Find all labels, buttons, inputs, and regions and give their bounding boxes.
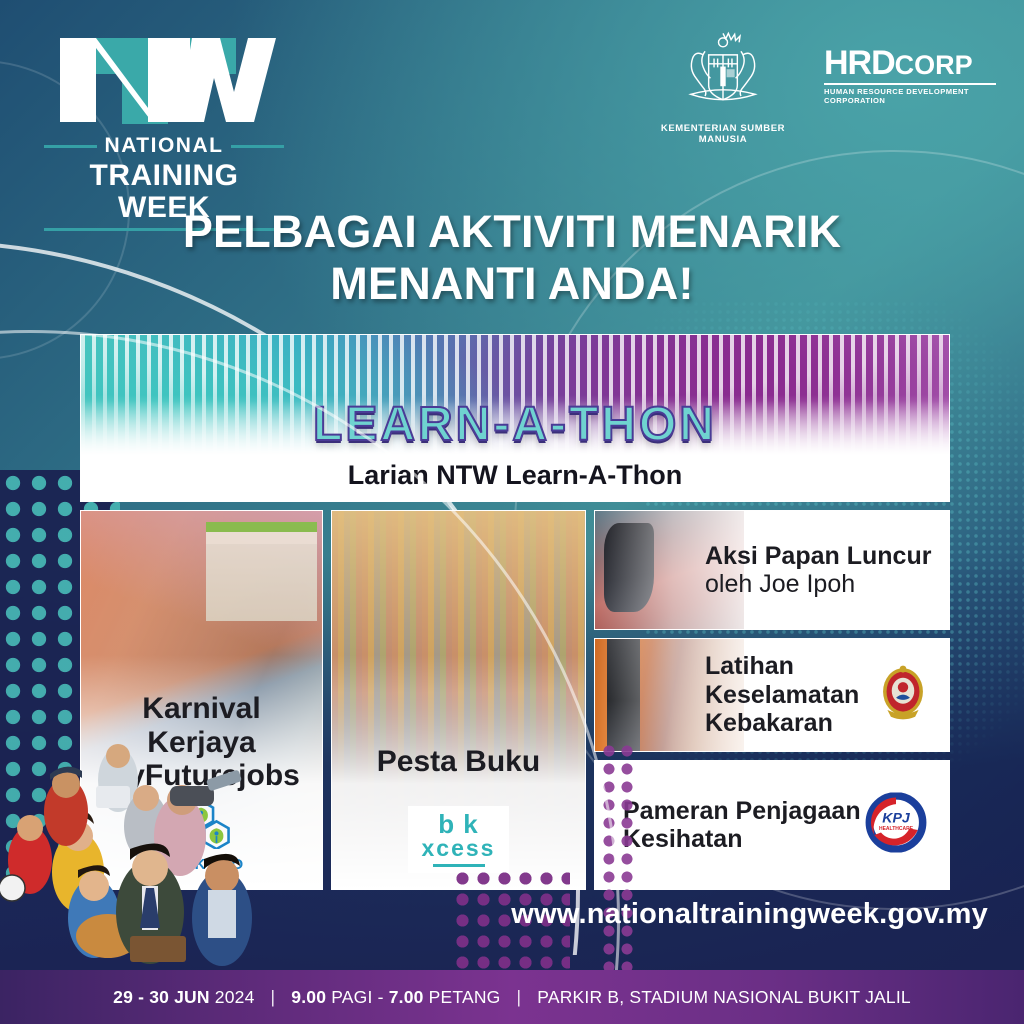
- svg-text:KPJ: KPJ: [882, 811, 911, 827]
- activity-card-skate-subtitle: oleh Joe Ipoh: [705, 570, 931, 599]
- activity-card-skate-title: Aksi Papan Luncur: [705, 542, 931, 571]
- headline-line-1: PELBAGAI AKTIVITI MENARIK: [0, 206, 1024, 258]
- bookxcess-rule: [433, 864, 485, 867]
- ntw-logo-mark-icon: [44, 30, 284, 130]
- activity-card-skate-text: Aksi Papan Luncur oleh Joe Ipoh: [595, 542, 931, 599]
- logo-rule-right: [231, 145, 284, 148]
- footer-venue: PARKIR B, STADIUM NASIONAL BUKIT JALIL: [537, 987, 911, 1008]
- hrdcorp-logo: HRDCORP HUMAN RESOURCE DEVELOPMENT CORPO…: [824, 28, 996, 105]
- learnathon-artwork-text: LEARN-A-THON: [81, 397, 949, 452]
- learnathon-banner[interactable]: LEARN-A-THON Larian NTW Learn-A-Thon: [80, 334, 950, 502]
- activity-column-right: Aksi Papan Luncur oleh Joe Ipoh Latihan …: [594, 510, 950, 890]
- footer-dates-year: 2024: [215, 987, 255, 1007]
- footer-dates-bold: 29 - 30 JUN: [113, 987, 210, 1007]
- activity-card-skate[interactable]: Aksi Papan Luncur oleh Joe Ipoh: [594, 510, 950, 630]
- footer-time-from-label: PAGI: [331, 987, 372, 1007]
- people-collage: [0, 740, 300, 970]
- headline-line-2: MENANTI ANDA!: [0, 258, 1024, 310]
- people-illustration-icon: [0, 740, 300, 970]
- footer-time-to-label: PETANG: [429, 987, 501, 1007]
- bomba-badge-icon: [877, 665, 929, 721]
- partner-logos: KEMENTERIAN SUMBER MANUSIA HRDCORP HUMAN…: [648, 28, 996, 145]
- bookxcess-line-2: xcess: [422, 837, 496, 860]
- hrdcorp-wordmark: HRDCORP: [824, 46, 996, 80]
- jata-negara-crest-icon: [663, 28, 783, 114]
- hrdcorp-rule: [824, 83, 996, 85]
- svg-text:HEALTHCARE: HEALTHCARE: [879, 826, 914, 832]
- activity-column-middle: Pesta Buku b k xcess: [331, 510, 586, 890]
- learnathon-caption: Larian NTW Learn-A-Thon: [81, 460, 949, 491]
- footer-time: 9.00 PAGI - 7.00 PETANG: [291, 987, 500, 1008]
- footer-time-from: 9.00: [291, 987, 326, 1007]
- hrdcorp-tagline: HUMAN RESOURCE DEVELOPMENT CORPORATION: [824, 87, 996, 105]
- ministry-logo: KEMENTERIAN SUMBER MANUSIA: [648, 28, 798, 145]
- event-footer-bar: 29 - 30 JUN 2024 | 9.00 PAGI - 7.00 PETA…: [0, 970, 1024, 1024]
- bomba-logo-slot: [877, 665, 929, 726]
- activity-card-book[interactable]: Pesta Buku b k xcess: [331, 510, 586, 890]
- ntw-logo: NATIONAL TRAINING WEEK: [44, 30, 284, 231]
- footer-separator-2: |: [501, 987, 538, 1008]
- kpj-logo-slot: KPJ HEALTHCARE: [863, 793, 929, 858]
- logo-rule-left: [44, 145, 97, 148]
- footer-dates: 29 - 30 JUN 2024: [113, 987, 254, 1008]
- activity-card-book-title: Pesta Buku: [332, 745, 585, 779]
- bookxcess-line-1: b k: [422, 812, 496, 837]
- poster-canvas: NATIONAL TRAINING WEEK: [0, 0, 1024, 1024]
- page-title: PELBAGAI AKTIVITI MENARIK MENANTI ANDA!: [0, 206, 1024, 310]
- purple-dot-pattern-right: [600, 742, 636, 977]
- ministry-caption: KEMENTERIAN SUMBER MANUSIA: [648, 123, 798, 145]
- bookxcess-logo: b k xcess: [408, 806, 510, 873]
- kpj-logo-icon: KPJ HEALTHCARE: [863, 793, 929, 853]
- footer-separator-1: |: [255, 987, 292, 1008]
- footer-time-to: 7.00: [389, 987, 424, 1007]
- activity-card-fire[interactable]: Latihan Keselamatan Kebakaran: [594, 638, 950, 752]
- ntw-logo-national: NATIONAL: [105, 134, 224, 158]
- footer-time-dash: -: [378, 987, 384, 1007]
- activity-card-health[interactable]: Pameran Penjagaan Kesihatan KPJ HEALTHCA…: [594, 760, 950, 890]
- book-logo-slot: b k xcess: [332, 806, 585, 873]
